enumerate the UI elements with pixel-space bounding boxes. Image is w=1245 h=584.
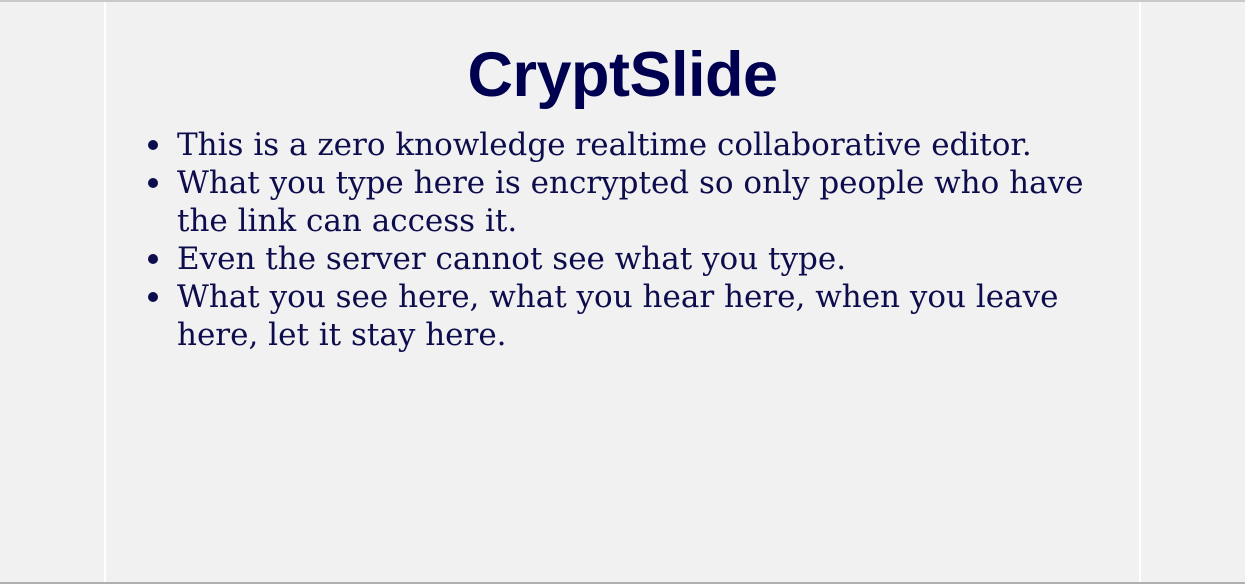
bullet-dot-icon	[148, 178, 158, 188]
slide-bullet-list[interactable]: This is a zero knowledge realtime collab…	[106, 126, 1139, 354]
bullet-dot-icon	[148, 254, 158, 264]
list-item[interactable]: What you see here, what you hear here, w…	[106, 278, 1139, 354]
slide-title[interactable]: CryptSlide	[106, 2, 1139, 107]
slide-canvas[interactable]: CryptSlide This is a zero knowledge real…	[106, 2, 1139, 582]
bullet-text: This is a zero knowledge realtime collab…	[177, 126, 1121, 164]
list-item[interactable]: Even the server cannot see what you type…	[106, 240, 1139, 278]
bullet-text: What you see here, what you hear here, w…	[177, 278, 1121, 354]
list-item[interactable]: What you type here is encrypted so only …	[106, 164, 1139, 240]
canvas-right-edge	[1139, 2, 1141, 582]
bullet-dot-icon	[148, 140, 158, 150]
bullet-dot-icon	[148, 292, 158, 302]
left-gutter	[0, 2, 104, 582]
bullet-text: Even the server cannot see what you type…	[177, 240, 1121, 278]
list-item[interactable]: This is a zero knowledge realtime collab…	[106, 126, 1139, 164]
right-gutter	[1141, 2, 1245, 582]
slide-editor-root: CryptSlide This is a zero knowledge real…	[0, 0, 1245, 584]
bullet-text: What you type here is encrypted so only …	[177, 164, 1121, 240]
